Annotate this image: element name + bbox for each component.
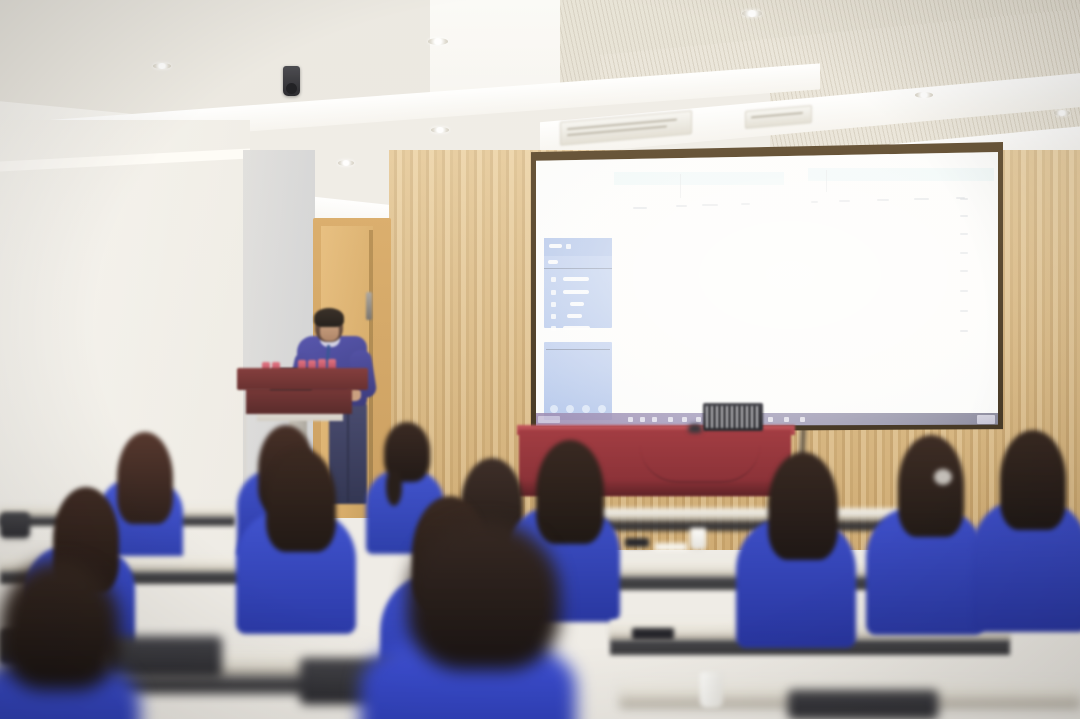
chair[interactable] bbox=[104, 636, 222, 678]
audience-hair bbox=[408, 520, 560, 670]
navigation-panel[interactable] bbox=[544, 238, 612, 328]
column-divider bbox=[680, 174, 681, 198]
table-cell-text bbox=[811, 201, 818, 203]
recessed-downlight-icon bbox=[742, 10, 762, 17]
door-handle-icon[interactable] bbox=[366, 292, 372, 320]
menu-item-label[interactable] bbox=[563, 326, 590, 330]
start-button[interactable] bbox=[538, 416, 560, 423]
recessed-downlight-icon bbox=[431, 127, 449, 133]
panel-header-icon[interactable] bbox=[566, 244, 571, 249]
paper-cup[interactable] bbox=[690, 528, 706, 550]
tray-icon[interactable] bbox=[640, 417, 645, 422]
audience-hair bbox=[536, 440, 604, 544]
mobile-phone[interactable] bbox=[625, 538, 649, 547]
toolbar-icon-3[interactable] bbox=[582, 405, 590, 413]
panel-divider bbox=[546, 349, 610, 350]
menu-item-label[interactable] bbox=[567, 314, 582, 318]
tray-icon[interactable] bbox=[800, 417, 805, 422]
mobile-phone[interactable] bbox=[632, 628, 674, 640]
table-cell-text bbox=[877, 199, 889, 201]
toolbar-icon-2[interactable] bbox=[566, 405, 574, 413]
toolbar-icon-1[interactable] bbox=[550, 405, 558, 413]
table-header-band bbox=[808, 168, 994, 181]
notepad bbox=[655, 543, 687, 551]
audience-hair bbox=[266, 448, 336, 552]
table-cell-text bbox=[839, 200, 850, 202]
recessed-downlight-icon bbox=[428, 38, 448, 45]
tray-icon[interactable] bbox=[628, 417, 633, 422]
power-cable bbox=[640, 445, 760, 483]
menu-item-label[interactable] bbox=[563, 290, 589, 294]
menu-item-label[interactable] bbox=[563, 277, 589, 281]
presenter-hair bbox=[314, 308, 344, 327]
secondary-panel[interactable] bbox=[544, 342, 612, 420]
recessed-downlight-icon bbox=[1054, 110, 1070, 116]
security-camera-icon bbox=[283, 66, 300, 96]
list-item[interactable] bbox=[960, 233, 968, 235]
tray-icon[interactable] bbox=[784, 417, 789, 422]
table-header-band bbox=[614, 172, 784, 185]
menu-item-icon bbox=[551, 302, 556, 307]
menu-item-icon bbox=[551, 314, 556, 319]
menu-item-icon bbox=[551, 326, 556, 331]
list-item[interactable] bbox=[960, 252, 968, 254]
list-item[interactable] bbox=[960, 310, 968, 312]
table-cell-text bbox=[914, 198, 929, 200]
audience-ponytail bbox=[934, 469, 952, 485]
list-item[interactable] bbox=[960, 270, 968, 272]
audience-hair bbox=[898, 435, 964, 537]
table-cell-text bbox=[702, 204, 718, 206]
conference-room-photo bbox=[0, 0, 1080, 719]
tray-icon[interactable] bbox=[768, 417, 773, 422]
computer-mouse-icon[interactable] bbox=[688, 424, 702, 433]
recessed-downlight-icon bbox=[915, 92, 933, 98]
tray-icon[interactable] bbox=[668, 417, 673, 422]
audience-hair bbox=[768, 452, 838, 560]
tray-icon[interactable] bbox=[652, 417, 657, 422]
projection-screen[interactable] bbox=[536, 152, 998, 426]
toolbar-icon-4[interactable] bbox=[598, 405, 606, 413]
recessed-downlight-icon bbox=[153, 63, 171, 69]
table-cell-text bbox=[676, 205, 687, 207]
audience-hair bbox=[0, 560, 120, 690]
list-item[interactable] bbox=[960, 290, 968, 292]
menu-item-icon bbox=[551, 277, 556, 282]
panel-title bbox=[549, 244, 562, 248]
panel-divider bbox=[544, 268, 612, 269]
list-item[interactable] bbox=[960, 215, 968, 217]
recessed-downlight-icon bbox=[338, 160, 354, 166]
chair[interactable] bbox=[0, 512, 30, 538]
tray-icon[interactable] bbox=[682, 417, 687, 422]
menu-item-label[interactable] bbox=[570, 302, 584, 306]
list-item[interactable] bbox=[960, 330, 968, 332]
column-divider bbox=[826, 170, 827, 192]
podium-body bbox=[246, 388, 352, 414]
menu-item-icon bbox=[551, 290, 556, 295]
list-item[interactable] bbox=[960, 198, 968, 200]
rack-grill bbox=[706, 406, 760, 428]
podium-top bbox=[237, 368, 368, 390]
table-cell-text bbox=[741, 203, 750, 205]
desk-underside bbox=[580, 521, 910, 531]
taskbar-clock[interactable] bbox=[977, 415, 995, 424]
audience-ponytail bbox=[386, 470, 402, 506]
tray-icon[interactable] bbox=[696, 417, 701, 422]
table-cell-text bbox=[633, 207, 647, 209]
panel-subtitle bbox=[548, 260, 558, 264]
chair[interactable] bbox=[788, 690, 938, 719]
audience-hair bbox=[117, 432, 173, 524]
paper-cup[interactable] bbox=[700, 672, 723, 708]
audience-hair bbox=[1000, 430, 1066, 530]
presenter-leg-seam bbox=[347, 410, 349, 502]
